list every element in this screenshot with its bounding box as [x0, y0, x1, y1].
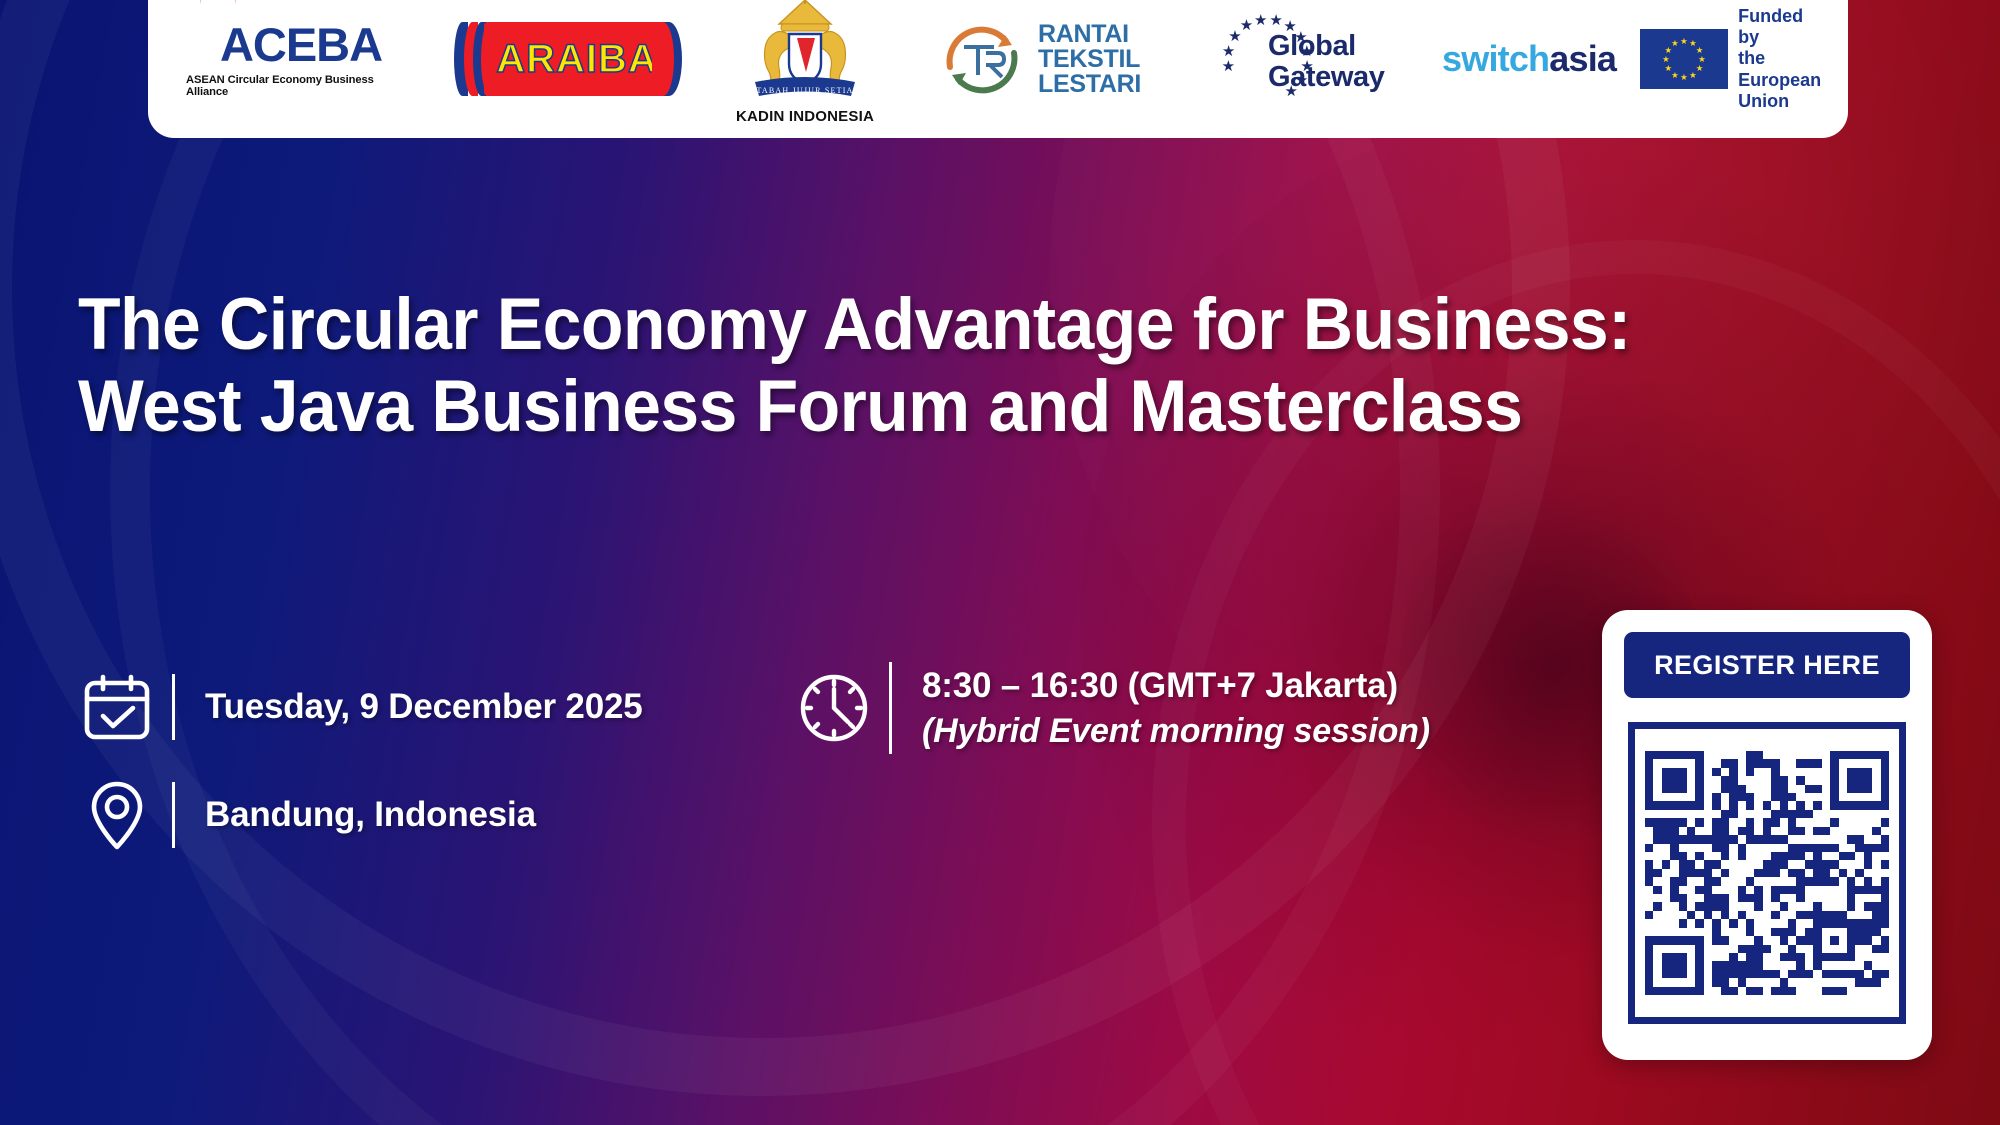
qr-module — [1881, 835, 1889, 843]
qr-module — [1813, 751, 1821, 759]
qr-module — [1813, 844, 1821, 852]
qr-module — [1805, 835, 1813, 843]
qr-module — [1695, 919, 1703, 927]
qr-module — [1695, 902, 1703, 910]
qr-module — [1653, 835, 1661, 843]
qr-module — [1653, 776, 1661, 784]
qr-module — [1855, 768, 1863, 776]
qr-module — [1746, 886, 1754, 894]
qr-module — [1721, 877, 1729, 885]
qr-module — [1679, 793, 1687, 801]
qr-module — [1788, 902, 1796, 910]
qr-module — [1855, 978, 1863, 986]
qr-module — [1830, 810, 1838, 818]
qr-module — [1788, 911, 1796, 919]
qr-module — [1704, 852, 1712, 860]
qr-module — [1872, 936, 1880, 944]
qr-module — [1645, 793, 1653, 801]
qr-module — [1796, 970, 1804, 978]
qr-module — [1754, 961, 1762, 969]
qr-module — [1653, 919, 1661, 927]
qr-module — [1855, 818, 1863, 826]
qr-module — [1738, 810, 1746, 818]
qr-module — [1679, 844, 1687, 852]
qr-module — [1830, 793, 1838, 801]
qr-module — [1679, 987, 1687, 995]
qr-module — [1847, 936, 1855, 944]
qr-module — [1738, 818, 1746, 826]
araiba-wordmark: ARAIBA — [496, 37, 658, 82]
qr-module — [1721, 894, 1729, 902]
qr-module — [1695, 852, 1703, 860]
qr-module — [1805, 844, 1813, 852]
qr-module — [1662, 945, 1670, 953]
qr-module — [1813, 860, 1821, 868]
qr-module — [1763, 776, 1771, 784]
qr-module — [1738, 894, 1746, 902]
qr-module — [1704, 827, 1712, 835]
qr-module — [1729, 827, 1737, 835]
qr-module — [1788, 751, 1796, 759]
qr-module — [1780, 759, 1788, 767]
logo-switchasia: switchasia — [1442, 0, 1616, 138]
qr-module — [1653, 801, 1661, 809]
qr-module — [1679, 961, 1687, 969]
qr-module — [1645, 776, 1653, 784]
qr-module — [1796, 894, 1804, 902]
qr-module — [1679, 936, 1687, 944]
qr-module — [1754, 844, 1762, 852]
qr-module — [1864, 835, 1872, 843]
qr-module — [1704, 919, 1712, 927]
qr-module — [1813, 961, 1821, 969]
qr-module — [1796, 827, 1804, 835]
qr-module — [1822, 776, 1830, 784]
qr-module — [1687, 776, 1695, 784]
qr-module — [1754, 835, 1762, 843]
qr-module — [1872, 793, 1880, 801]
qr-module — [1645, 970, 1653, 978]
qr-module — [1679, 751, 1687, 759]
qr-module — [1746, 911, 1754, 919]
qr-module — [1813, 869, 1821, 877]
qr-module — [1763, 919, 1771, 927]
qr-module — [1771, 751, 1779, 759]
qr-module — [1687, 759, 1695, 767]
qr-module — [1729, 793, 1737, 801]
qr-module — [1763, 970, 1771, 978]
qr-module — [1881, 886, 1889, 894]
qr-module — [1763, 852, 1771, 860]
qr-module — [1847, 844, 1855, 852]
qr-module — [1729, 936, 1737, 944]
qr-module — [1653, 945, 1661, 953]
location-divider — [172, 782, 175, 848]
qr-module — [1796, 936, 1804, 944]
qr-module — [1763, 835, 1771, 843]
qr-module — [1754, 894, 1762, 902]
qr-module — [1687, 877, 1695, 885]
qr-module — [1788, 919, 1796, 927]
qr-module — [1830, 751, 1838, 759]
qr-module — [1738, 886, 1746, 894]
qr-module — [1704, 793, 1712, 801]
qr-module — [1796, 902, 1804, 910]
qr-module — [1847, 978, 1855, 986]
qr-module — [1872, 818, 1880, 826]
qr-module — [1662, 978, 1670, 986]
qr-module — [1813, 793, 1821, 801]
qr-module — [1788, 776, 1796, 784]
qr-module — [1881, 793, 1889, 801]
qr-module — [1788, 877, 1796, 885]
qr-module — [1653, 785, 1661, 793]
qr-module — [1864, 961, 1872, 969]
qr-module — [1721, 852, 1729, 860]
qr-module — [1712, 928, 1720, 936]
qr-module — [1839, 852, 1847, 860]
qr-module — [1872, 759, 1880, 767]
event-banner: ACEBA ASEAN Circular Economy Business Al… — [0, 0, 2000, 1125]
qr-module — [1855, 801, 1863, 809]
qr-module — [1771, 978, 1779, 986]
qr-module — [1670, 860, 1678, 868]
qr-module — [1872, 945, 1880, 953]
qr-module — [1872, 902, 1880, 910]
qr-module — [1729, 818, 1737, 826]
logo-rantai-tekstil-lestari: RANTAI TEKSTIL LESTARI — [900, 0, 1194, 138]
qr-module — [1721, 827, 1729, 835]
qr-module — [1704, 945, 1712, 953]
qr-module — [1881, 902, 1889, 910]
qr-module — [1822, 886, 1830, 894]
global-gateway-star: ★ — [1254, 13, 1267, 28]
eu-star: ★ — [1689, 71, 1697, 80]
qr-module — [1754, 945, 1762, 953]
qr-module — [1855, 911, 1863, 919]
qr-module — [1712, 852, 1720, 860]
qr-module — [1679, 919, 1687, 927]
qr-module — [1847, 751, 1855, 759]
qr-module — [1839, 768, 1847, 776]
qr-module — [1754, 827, 1762, 835]
qr-module — [1704, 911, 1712, 919]
qr-module — [1679, 835, 1687, 843]
qr-module — [1645, 818, 1653, 826]
qr-code-frame — [1628, 722, 1906, 1024]
qr-module — [1687, 945, 1695, 953]
qr-module — [1662, 911, 1670, 919]
qr-module — [1712, 978, 1720, 986]
qr-module — [1704, 810, 1712, 818]
switchasia-wordmark: switchasia — [1442, 38, 1616, 80]
qr-module — [1721, 818, 1729, 826]
qr-module — [1645, 751, 1653, 759]
qr-module — [1738, 801, 1746, 809]
qr-module — [1822, 844, 1830, 852]
qr-module — [1788, 928, 1796, 936]
qr-module — [1729, 768, 1737, 776]
qr-module — [1645, 919, 1653, 927]
qr-module — [1712, 987, 1720, 995]
qr-module — [1721, 928, 1729, 936]
qr-module — [1830, 768, 1838, 776]
qr-module — [1653, 759, 1661, 767]
qr-module — [1864, 793, 1872, 801]
qr-module — [1771, 936, 1779, 944]
qr-module — [1645, 877, 1653, 885]
qr-module — [1704, 776, 1712, 784]
qr-module — [1712, 818, 1720, 826]
qr-module — [1796, 751, 1804, 759]
qr-module — [1662, 751, 1670, 759]
qr-module — [1763, 945, 1771, 953]
rtl-line-2: TEKSTIL — [1038, 47, 1141, 72]
qr-module — [1763, 818, 1771, 826]
qr-module — [1796, 810, 1804, 818]
qr-module — [1847, 911, 1855, 919]
qr-module — [1687, 793, 1695, 801]
qr-module — [1704, 751, 1712, 759]
qr-module — [1855, 894, 1863, 902]
qr-module — [1746, 987, 1754, 995]
qr-module — [1754, 987, 1762, 995]
qr-module — [1704, 877, 1712, 885]
qr-module — [1813, 902, 1821, 910]
qr-module — [1813, 970, 1821, 978]
qr-module — [1872, 953, 1880, 961]
qr-module — [1881, 869, 1889, 877]
qr-module — [1839, 810, 1847, 818]
qr-module — [1813, 987, 1821, 995]
qr-module — [1670, 911, 1678, 919]
qr-module — [1813, 776, 1821, 784]
qr-module — [1763, 953, 1771, 961]
qr-module — [1754, 776, 1762, 784]
qr-module — [1839, 801, 1847, 809]
qr-module — [1746, 810, 1754, 818]
qr-module — [1746, 936, 1754, 944]
qr-module — [1687, 961, 1695, 969]
qr-module — [1813, 928, 1821, 936]
qr-module — [1881, 961, 1889, 969]
qr-module — [1738, 919, 1746, 927]
register-here-button[interactable]: REGISTER HERE — [1624, 632, 1910, 698]
qr-module — [1830, 877, 1838, 885]
qr-module — [1687, 987, 1695, 995]
qr-module — [1712, 827, 1720, 835]
qr-module — [1855, 810, 1863, 818]
qr-module — [1830, 776, 1838, 784]
qr-module — [1771, 928, 1779, 936]
qr-module — [1687, 852, 1695, 860]
qr-module — [1780, 776, 1788, 784]
qr-module — [1687, 810, 1695, 818]
qr-module — [1670, 869, 1678, 877]
qr-module — [1754, 978, 1762, 986]
qr-module — [1805, 801, 1813, 809]
qr-module — [1830, 928, 1838, 936]
qr-module — [1855, 886, 1863, 894]
qr-module — [1721, 961, 1729, 969]
qr-module — [1721, 970, 1729, 978]
qr-module — [1763, 886, 1771, 894]
qr-module — [1881, 768, 1889, 776]
aceba-tagline: ASEAN Circular Economy Business Alliance — [186, 74, 416, 98]
qr-module — [1796, 835, 1804, 843]
qr-module — [1763, 793, 1771, 801]
qr-module — [1771, 759, 1779, 767]
qr-module — [1712, 768, 1720, 776]
qr-module — [1712, 810, 1720, 818]
qr-module — [1721, 768, 1729, 776]
qr-module — [1704, 936, 1712, 944]
qr-module — [1839, 793, 1847, 801]
qr-module — [1771, 945, 1779, 953]
qr-module — [1872, 835, 1880, 843]
qr-module — [1855, 961, 1863, 969]
qr-module — [1830, 835, 1838, 843]
qr-module — [1721, 953, 1729, 961]
qr-module — [1839, 987, 1847, 995]
qr-module — [1822, 810, 1830, 818]
qr-module — [1754, 751, 1762, 759]
qr-module — [1746, 801, 1754, 809]
qr-module — [1855, 759, 1863, 767]
qr-module — [1746, 928, 1754, 936]
qr-module — [1729, 877, 1737, 885]
qr-module — [1653, 877, 1661, 885]
qr-module — [1796, 877, 1804, 885]
qr-module — [1847, 970, 1855, 978]
qr-module — [1763, 961, 1771, 969]
qr-module — [1864, 801, 1872, 809]
qr-module — [1864, 751, 1872, 759]
qr-module — [1662, 886, 1670, 894]
qr-module — [1687, 894, 1695, 902]
qr-module — [1839, 818, 1847, 826]
qr-module — [1729, 785, 1737, 793]
qr-module — [1855, 869, 1863, 877]
qr-module — [1670, 793, 1678, 801]
qr-module — [1805, 970, 1813, 978]
global-gateway-line-2: Gateway — [1268, 62, 1385, 93]
qr-module — [1704, 801, 1712, 809]
qr-module — [1754, 852, 1762, 860]
qr-module — [1712, 945, 1720, 953]
aceba-red-arc-icon — [200, 0, 236, 5]
qr-module — [1670, 928, 1678, 936]
qr-module — [1864, 860, 1872, 868]
qr-module — [1670, 886, 1678, 894]
switchasia-part-1: sw — [1442, 38, 1488, 79]
qr-module — [1822, 759, 1830, 767]
qr-module — [1670, 902, 1678, 910]
qr-module — [1796, 961, 1804, 969]
qr-module — [1881, 776, 1889, 784]
qr-module — [1813, 886, 1821, 894]
qr-module — [1881, 928, 1889, 936]
qr-module — [1872, 911, 1880, 919]
qr-module — [1839, 835, 1847, 843]
qr-module — [1788, 768, 1796, 776]
qr-module — [1780, 835, 1788, 843]
calendar-check-icon — [78, 668, 156, 746]
qr-module — [1881, 970, 1889, 978]
qr-module — [1729, 970, 1737, 978]
qr-module — [1670, 759, 1678, 767]
qr-module — [1738, 785, 1746, 793]
qr-module — [1763, 877, 1771, 885]
qr-module — [1729, 978, 1737, 986]
qr-module — [1738, 978, 1746, 986]
qr-module — [1813, 978, 1821, 986]
qr-module — [1695, 810, 1703, 818]
qr-module — [1855, 902, 1863, 910]
qr-module — [1864, 936, 1872, 944]
qr-module — [1687, 970, 1695, 978]
qr-module — [1872, 877, 1880, 885]
qr-module — [1645, 869, 1653, 877]
qr-module — [1746, 978, 1754, 986]
qr-module — [1864, 869, 1872, 877]
qr-module — [1645, 961, 1653, 969]
qr-module — [1822, 869, 1830, 877]
qr-module — [1738, 953, 1746, 961]
eu-star: ★ — [1665, 64, 1673, 73]
qr-module — [1653, 970, 1661, 978]
qr-module — [1712, 911, 1720, 919]
logo-funded-by-eu: ★★★★★★★★★★★★ Funded by the European Unio… — [1616, 0, 1824, 138]
qr-module — [1679, 978, 1687, 986]
qr-module — [1662, 818, 1670, 826]
detail-row-time: 8:30 – 16:30 (GMT+7 Jakarta) (Hybrid Eve… — [795, 662, 1430, 754]
qr-module — [1645, 860, 1653, 868]
qr-module — [1881, 852, 1889, 860]
qr-module — [1704, 970, 1712, 978]
qr-module — [1805, 945, 1813, 953]
qr-module — [1754, 818, 1762, 826]
qr-code[interactable] — [1645, 751, 1889, 995]
qr-module — [1645, 801, 1653, 809]
location-pin-icon — [78, 776, 156, 854]
qr-module — [1805, 953, 1813, 961]
qr-module — [1645, 945, 1653, 953]
qr-module — [1822, 793, 1830, 801]
qr-module — [1805, 886, 1813, 894]
qr-module — [1754, 911, 1762, 919]
qr-module — [1679, 852, 1687, 860]
qr-module — [1780, 970, 1788, 978]
qr-module — [1805, 751, 1813, 759]
qr-module — [1712, 953, 1720, 961]
qr-module — [1839, 759, 1847, 767]
qr-module — [1822, 785, 1830, 793]
qr-module — [1695, 759, 1703, 767]
qr-module — [1704, 886, 1712, 894]
qr-module — [1796, 860, 1804, 868]
qr-module — [1687, 818, 1695, 826]
qr-module — [1864, 928, 1872, 936]
qr-module — [1822, 801, 1830, 809]
qr-module — [1662, 827, 1670, 835]
qr-module — [1796, 919, 1804, 927]
event-time: 8:30 – 16:30 (GMT+7 Jakarta) (Hybrid Eve… — [922, 666, 1430, 751]
qr-module — [1679, 970, 1687, 978]
logo-bar: ACEBA ASEAN Circular Economy Business Al… — [148, 0, 1848, 138]
qr-module — [1687, 869, 1695, 877]
global-gateway-star: ★ — [1222, 44, 1235, 59]
